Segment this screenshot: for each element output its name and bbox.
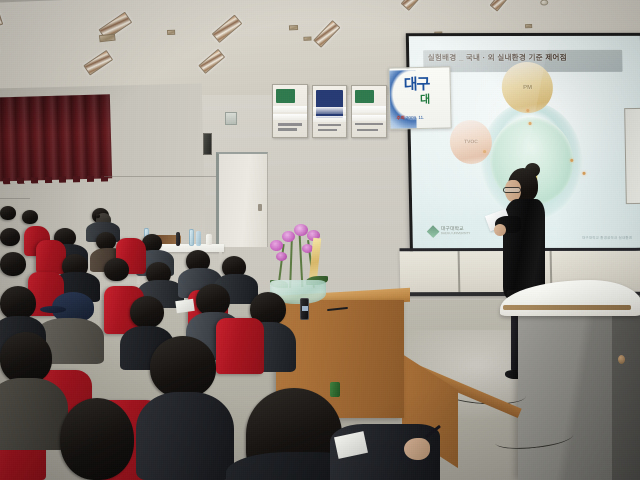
poster-glare xyxy=(272,114,308,120)
audience-head-foreground xyxy=(60,398,134,480)
presenter-suit-jacket xyxy=(503,199,545,299)
ceiling-speaker xyxy=(540,0,548,6)
audience-head-foreground xyxy=(0,332,52,384)
phone-screen xyxy=(302,306,308,311)
paper-cup xyxy=(206,234,212,245)
ceiling-light-fixture xyxy=(0,9,3,35)
poster-glare xyxy=(272,106,308,112)
poster-glare xyxy=(312,116,347,122)
poster-glare xyxy=(312,107,347,113)
wall-seam xyxy=(104,176,224,177)
audience-head xyxy=(0,252,26,276)
audience-head xyxy=(104,258,129,281)
whiteboard-edge xyxy=(624,108,640,204)
audience-head-foreground xyxy=(150,336,216,398)
orchid-bloom xyxy=(276,252,287,261)
door-handle-icon[interactable] xyxy=(258,204,262,211)
audience-shoulders xyxy=(0,378,68,450)
banner-line-3-date: 2009. 11. xyxy=(406,115,425,120)
mobile-phone[interactable] xyxy=(300,298,309,320)
poster-text-line xyxy=(355,123,382,126)
audience-head xyxy=(96,214,100,218)
cabinet-panel-seam xyxy=(458,251,461,296)
poster-glare xyxy=(351,106,387,112)
banner-line-3: 주최 2009. 11. xyxy=(396,115,424,122)
lectern-front-lip xyxy=(503,305,631,310)
auditorium-seat[interactable] xyxy=(216,318,264,374)
presenter-hand xyxy=(494,224,506,236)
slide-footer-text: 대구대학교 환경공학과 실내환경 xyxy=(582,235,632,240)
wall-control-plate xyxy=(225,112,237,125)
stage-curtain xyxy=(0,94,112,181)
banner-line-2: 대 xyxy=(420,91,430,107)
poster-text-line xyxy=(278,128,297,131)
poster-glare xyxy=(351,115,387,121)
orchid-bloom xyxy=(294,224,308,236)
hall-door[interactable] xyxy=(216,152,268,247)
water-bottle xyxy=(189,229,194,246)
audience-head xyxy=(130,296,164,328)
ceiling-vent xyxy=(99,34,116,43)
orchid-bloom xyxy=(282,231,295,242)
wall-poster xyxy=(351,85,387,138)
audience-hand xyxy=(404,438,430,460)
poster-header-band xyxy=(355,90,374,103)
ceiling-light-fixture xyxy=(401,0,427,11)
audience-head xyxy=(0,228,20,246)
audience-shoulders xyxy=(136,392,234,480)
wall-poster xyxy=(312,85,347,138)
audience-head xyxy=(0,286,36,320)
ceiling-vent xyxy=(167,30,175,35)
poster-header-band xyxy=(276,89,295,103)
ceiling-light-fixture xyxy=(198,49,225,74)
ceiling-light-fixture xyxy=(313,20,340,48)
ceiling-light-fixture xyxy=(490,0,513,12)
audience-head xyxy=(22,210,38,224)
poster-text-line xyxy=(278,123,302,126)
lectern-knob[interactable] xyxy=(618,355,625,364)
banner-line-3-prefix: 주최 xyxy=(396,115,404,120)
flower-arrangement xyxy=(262,218,334,304)
ceiling-vent xyxy=(303,37,311,41)
ceiling-light-fixture xyxy=(83,50,113,76)
wall-poster xyxy=(272,84,308,138)
cap-brim xyxy=(40,306,66,313)
wall-seam xyxy=(0,198,30,199)
audience-head xyxy=(0,206,16,220)
lectern-side-panel xyxy=(612,296,640,480)
poster-text-line xyxy=(357,129,378,132)
poster-text-line xyxy=(318,124,342,127)
ceiling-vent xyxy=(289,25,298,30)
orchid-bloom xyxy=(270,240,283,251)
poster-text-line xyxy=(318,129,337,132)
presenter-eyeglasses-icon xyxy=(503,187,521,193)
green-drink-can xyxy=(330,382,340,397)
ceiling-vent xyxy=(525,24,532,28)
photo-scene: 실험배경 _ 국내 · 외 실내환경 기준 제어점 PM TVOC 차이점 대구… xyxy=(0,0,640,480)
dark-bottle xyxy=(176,232,180,246)
water-bottle xyxy=(196,231,201,246)
wall-speaker-box xyxy=(203,133,212,155)
ceiling-light-fixture xyxy=(212,14,243,43)
paper-handout xyxy=(175,299,194,313)
event-banner: 대구 대 주최 2009. 11. xyxy=(388,66,451,129)
